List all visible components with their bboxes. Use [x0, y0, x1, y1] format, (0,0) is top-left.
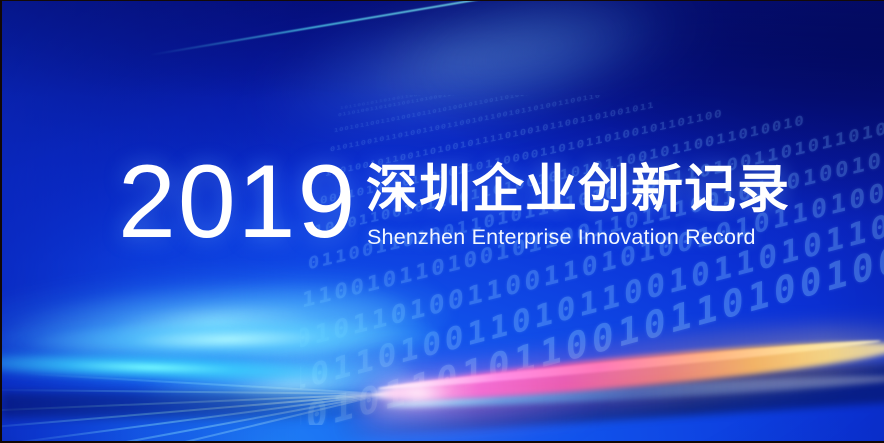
- image-border: [0, 0, 884, 443]
- banner-2019-shenzhen-innovation-record: 1011001011010011001101101100101101001100…: [0, 0, 884, 443]
